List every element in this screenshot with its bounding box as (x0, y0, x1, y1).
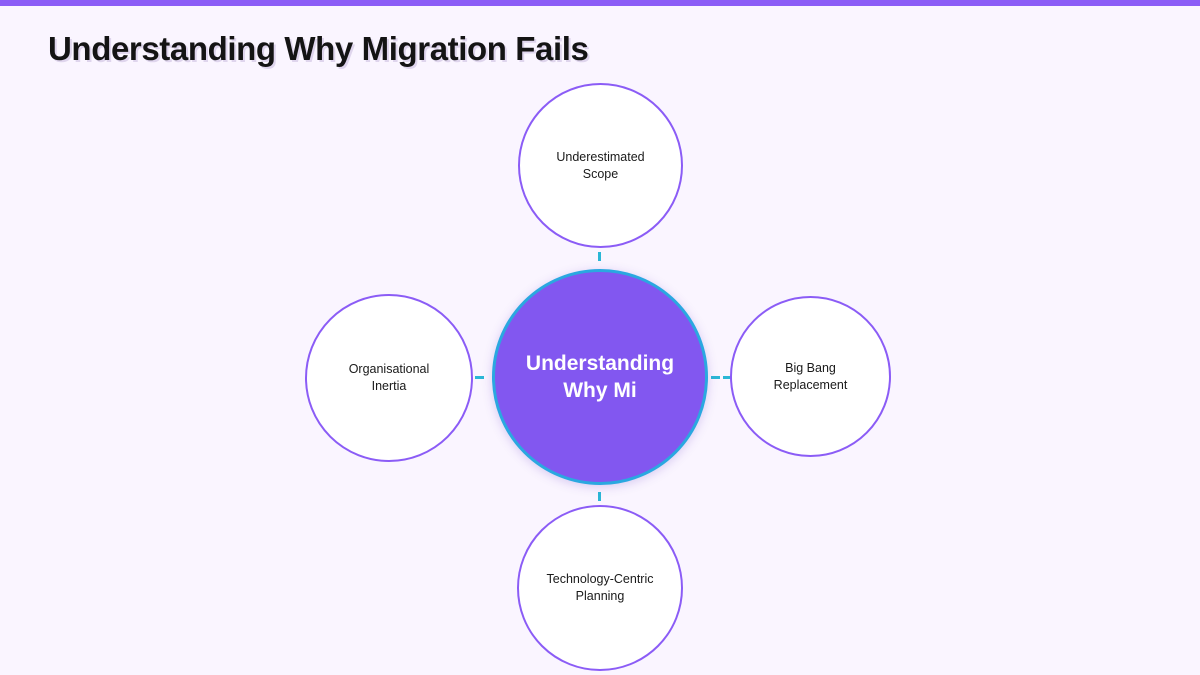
node-center-label: Understanding Why Mi (526, 350, 674, 405)
connector-center-to-right-dash-1 (711, 376, 720, 379)
node-technology-centric-planning[interactable]: Technology-Centric Planning (517, 505, 683, 671)
node-underestimated-scope[interactable]: Underestimated Scope (518, 83, 683, 248)
node-label: Technology-Centric Planning (547, 571, 654, 605)
node-organisational-inertia[interactable]: Organisational Inertia (305, 294, 473, 462)
node-big-bang-replacement[interactable]: Big Bang Replacement (730, 296, 891, 457)
node-label: Organisational Inertia (349, 361, 430, 395)
connector-center-to-bottom (598, 492, 601, 501)
slide-canvas: Understanding Why Migration Fails Undere… (0, 0, 1200, 675)
connector-center-to-top (598, 252, 601, 261)
node-label: Underestimated Scope (556, 149, 644, 183)
node-label: Big Bang Replacement (774, 360, 848, 394)
connector-center-to-left (475, 376, 484, 379)
hub-and-spoke-diagram: Underestimated Scope Big Bang Replacemen… (0, 0, 1200, 675)
node-center-hub[interactable]: Understanding Why Mi (492, 269, 708, 485)
